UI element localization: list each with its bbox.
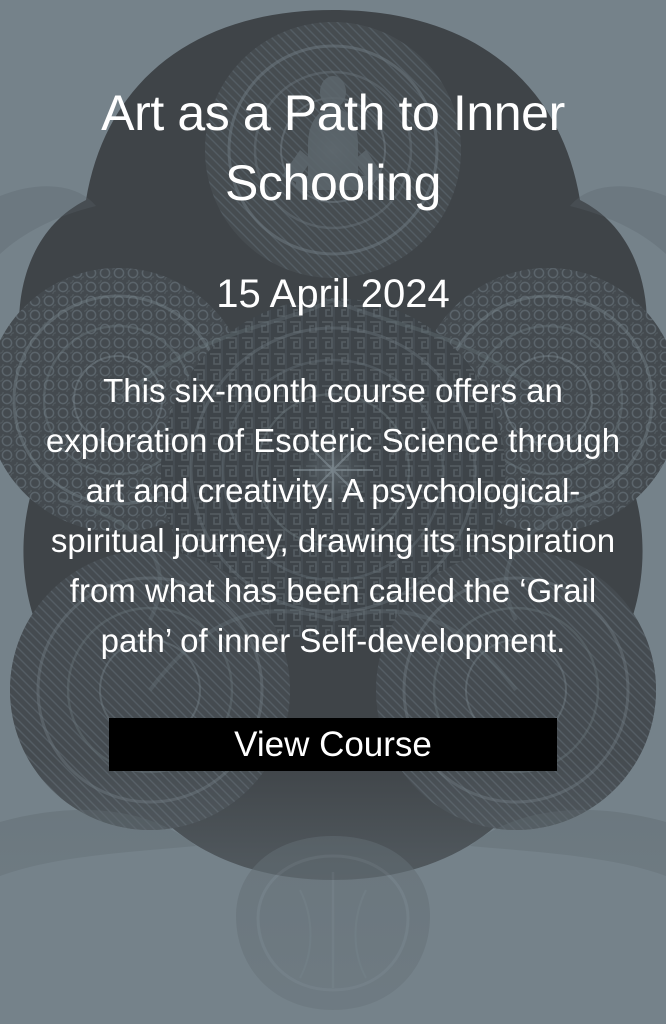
cta-container: View Course xyxy=(0,718,666,771)
course-description: This six-month course offers an explorat… xyxy=(0,366,666,666)
course-title: Art as a Path to Inner Schooling xyxy=(0,78,666,218)
course-promo-card: Art as a Path to Inner Schooling 15 Apri… xyxy=(0,0,666,1024)
view-course-button[interactable]: View Course xyxy=(109,718,557,771)
course-date: 15 April 2024 xyxy=(0,270,666,318)
card-content: Art as a Path to Inner Schooling 15 Apri… xyxy=(0,0,666,1024)
